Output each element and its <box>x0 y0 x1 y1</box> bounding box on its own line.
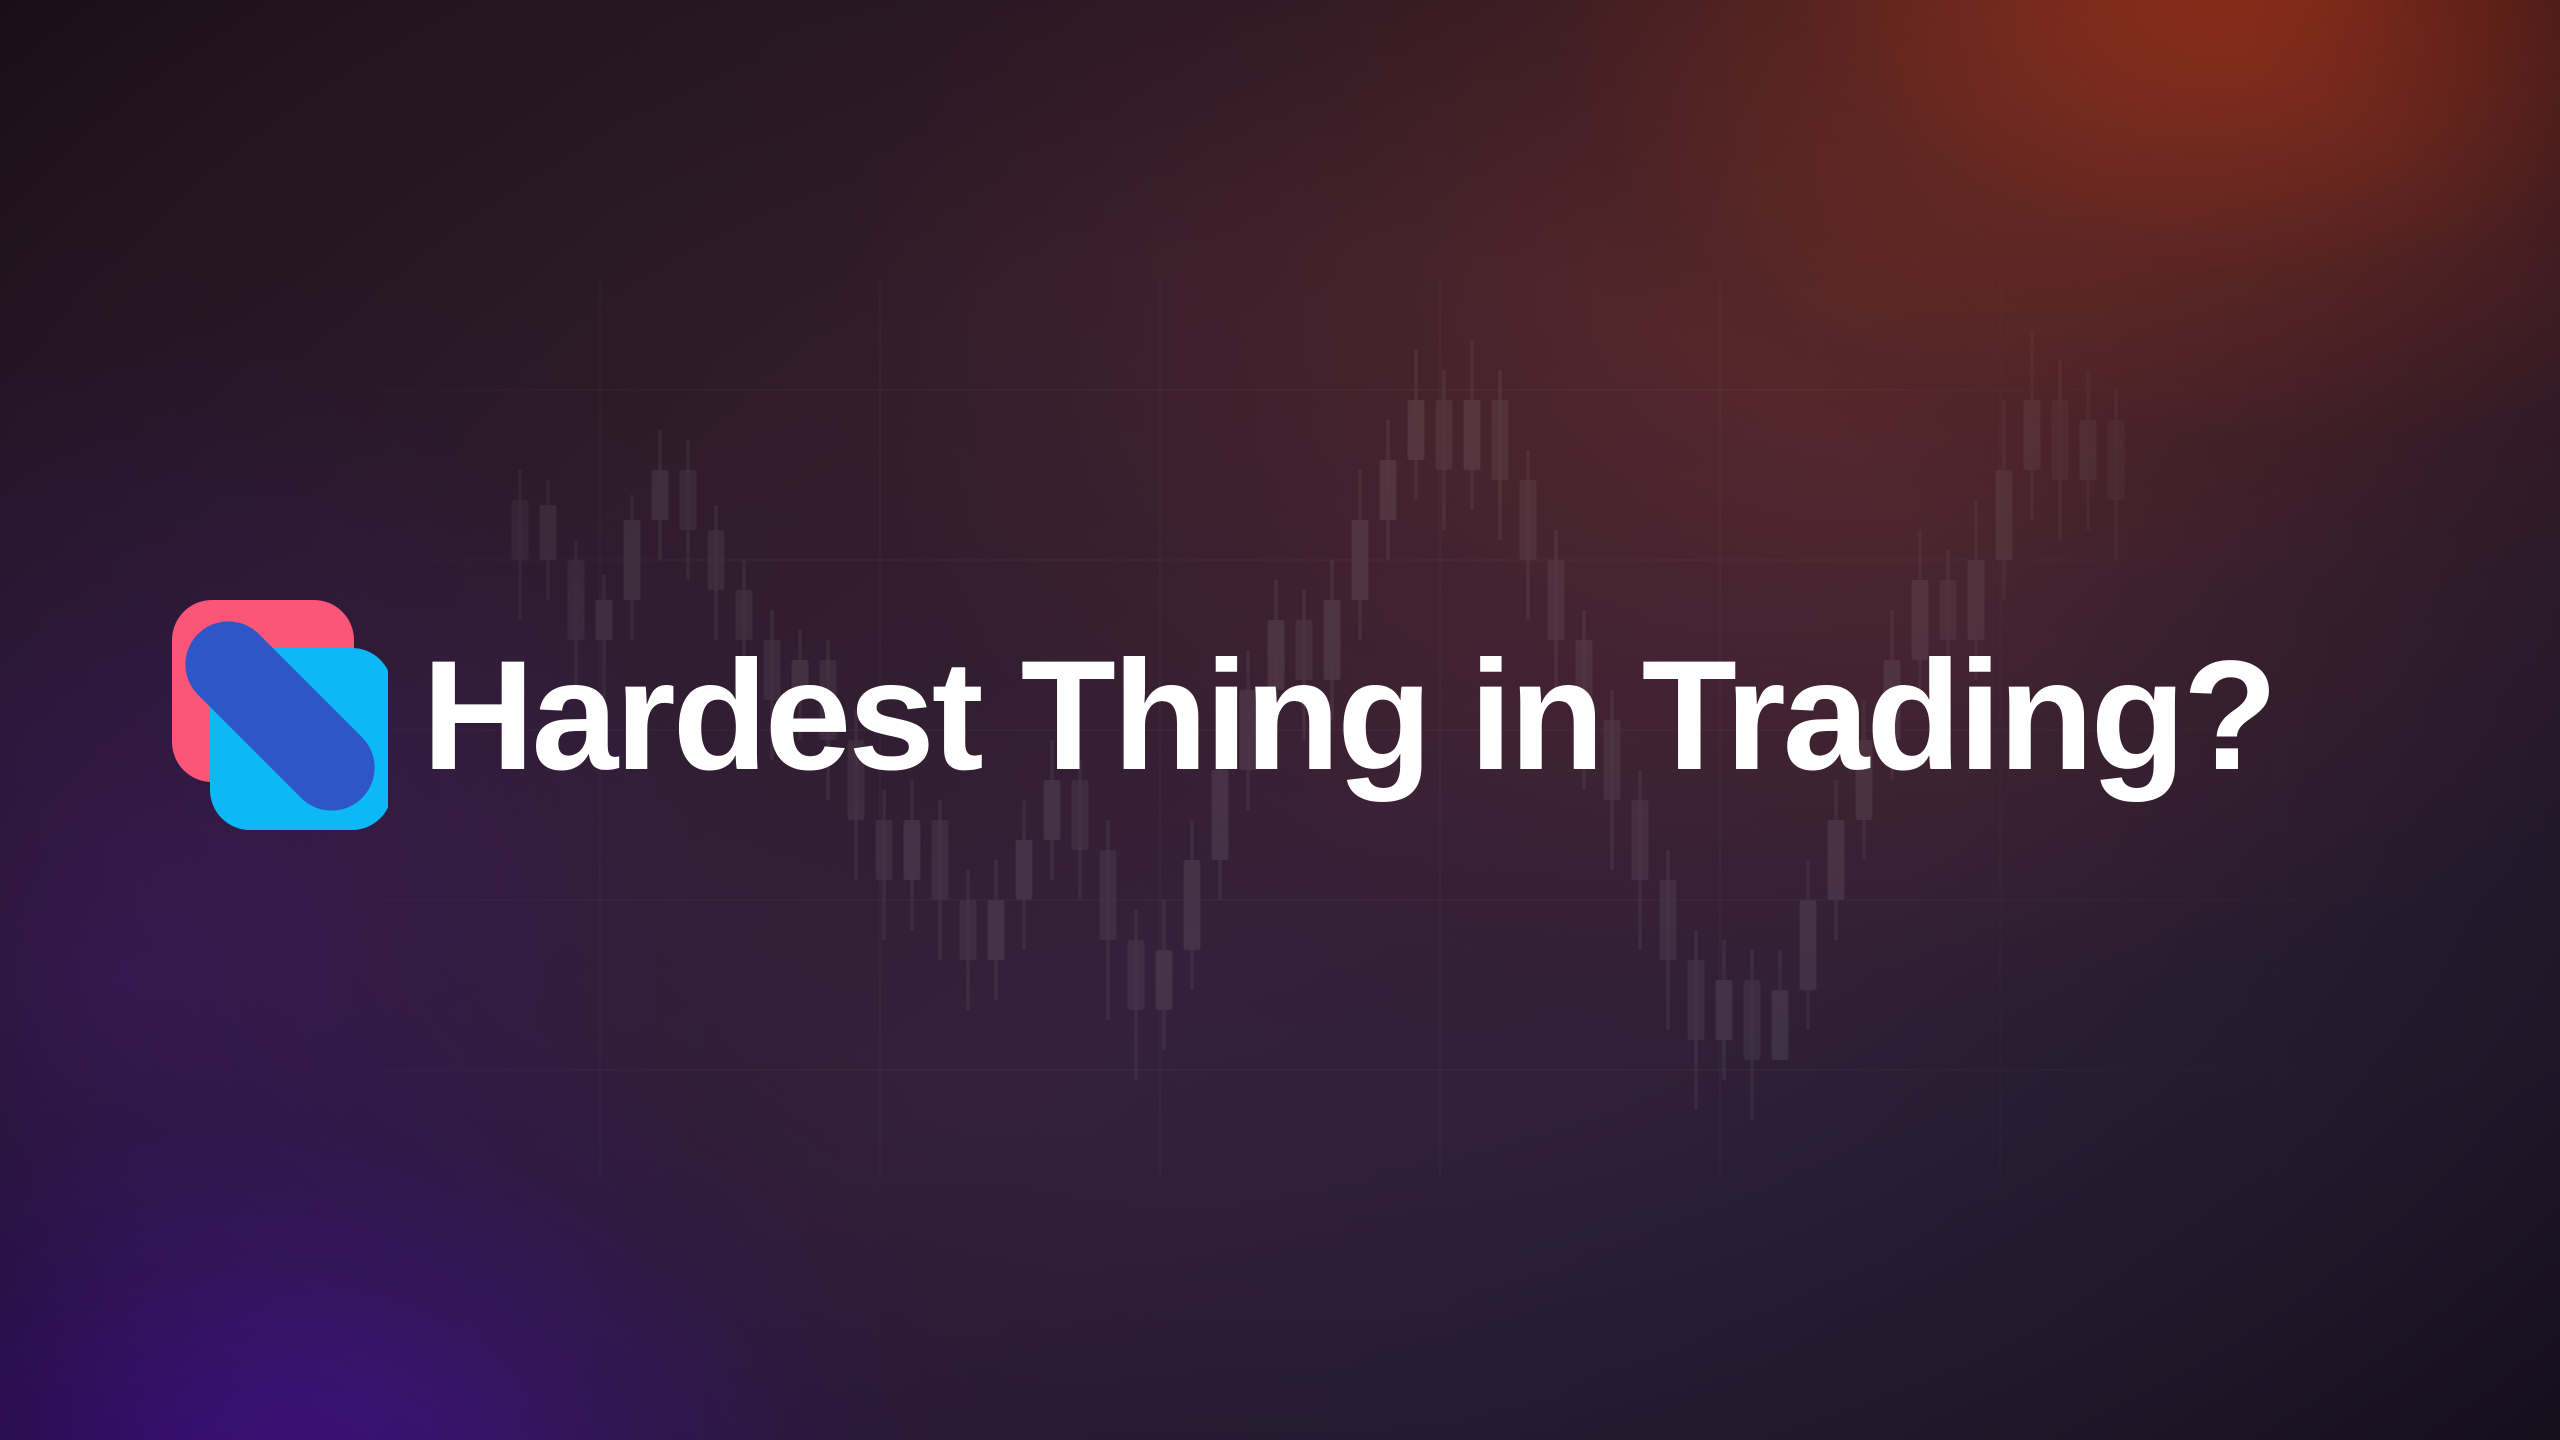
slide-canvas: Hardest Thing in Trading? <box>0 0 2560 1440</box>
slide-content: Hardest Thing in Trading? <box>172 592 2275 840</box>
brand-logo-icon <box>172 592 388 840</box>
page-title: Hardest Thing in Trading? <box>422 638 2275 794</box>
